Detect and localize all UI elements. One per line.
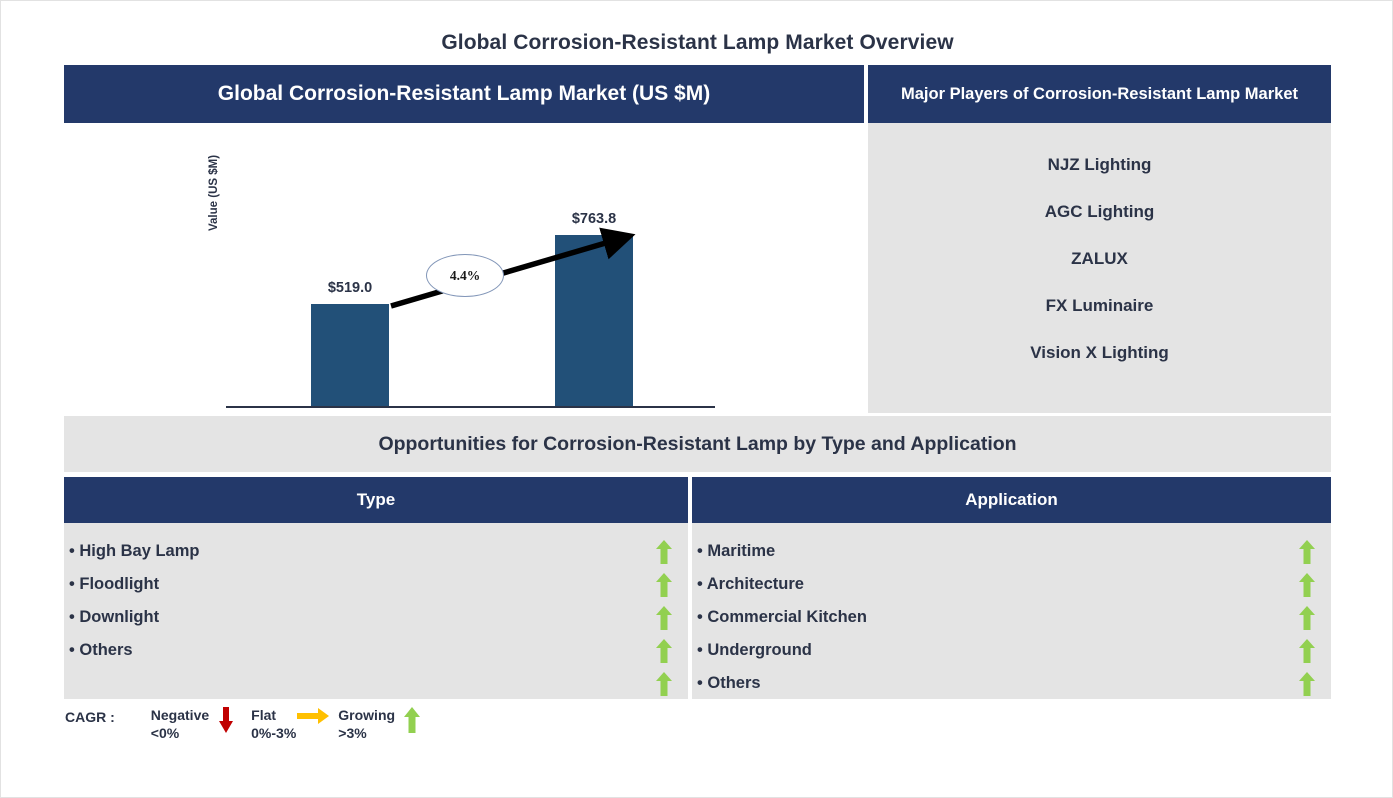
legend-entry-name: Negative <box>151 706 209 724</box>
list-item: Vision X Lighting <box>868 329 1331 376</box>
arrow-row <box>650 535 678 568</box>
bar-value-2026: $519.0 <box>290 280 410 296</box>
type-items-list: • High Bay Lamp • Floodlight • Downlight… <box>64 523 688 667</box>
arrow-row <box>650 634 678 667</box>
list-item: • Underground <box>697 634 1331 667</box>
down-arrow-icon <box>209 706 243 733</box>
up-arrow-icon <box>656 573 672 597</box>
type-column-header: Type <box>64 477 688 523</box>
legend-entry-text: Negative <0% <box>151 706 209 742</box>
application-column-body: • Maritime • Architecture • Commercial K… <box>692 523 1331 699</box>
cagr-legend: CAGR : Negative <0% Flat 0%-3% Growing >… <box>65 706 437 742</box>
list-item: FX Luminaire <box>868 282 1331 329</box>
list-item: • Floodlight <box>69 568 688 601</box>
opportunities-application-column: Application • Maritime • Architecture • … <box>692 477 1331 699</box>
growth-trend-arrow <box>214 213 714 413</box>
up-arrow-icon <box>656 672 672 696</box>
up-arrow-icon <box>1299 606 1315 630</box>
page-title: Global Corrosion-Resistant Lamp Market O… <box>1 31 1393 55</box>
legend-entry-negative: Negative <0% <box>151 706 243 742</box>
up-arrow-icon <box>656 606 672 630</box>
bar-value-2035: $763.8 <box>534 211 654 227</box>
up-arrow-icon <box>1299 573 1315 597</box>
list-item: • Others <box>69 634 688 667</box>
bar-2035 <box>555 235 633 406</box>
infographic-page: Global Corrosion-Resistant Lamp Market O… <box>0 0 1393 798</box>
cagr-bubble: 4.4% <box>426 254 504 297</box>
market-chart-panel: Global Corrosion-Resistant Lamp Market (… <box>64 65 864 413</box>
list-item: • Maritime <box>697 535 1331 568</box>
major-players-panel: Major Players of Corrosion-Resistant Lam… <box>868 65 1331 413</box>
up-arrow-icon <box>1299 639 1315 663</box>
arrow-row <box>650 601 678 634</box>
x-axis-line <box>226 406 715 408</box>
legend-entry-flat: Flat 0%-3% <box>251 706 330 742</box>
legend-entry-name: Growing <box>338 706 395 724</box>
arrow-row <box>1293 634 1321 667</box>
opportunities-banner: Opportunities for Corrosion-Resistant La… <box>64 416 1331 472</box>
list-item: AGC Lighting <box>868 188 1331 235</box>
application-items-list: • Maritime • Architecture • Commercial K… <box>692 523 1331 700</box>
cagr-legend-label: CAGR : <box>65 706 115 725</box>
list-item: • Downlight <box>69 601 688 634</box>
up-arrow-icon <box>1299 672 1315 696</box>
chart-panel-header: Global Corrosion-Resistant Lamp Market (… <box>64 65 864 123</box>
list-item: • Commercial Kitchen <box>697 601 1331 634</box>
y-axis-label: Value (US $M) <box>208 155 220 231</box>
arrow-row <box>1293 601 1321 634</box>
arrow-row <box>650 568 678 601</box>
players-list: NJZ Lighting AGC Lighting ZALUX FX Lumin… <box>868 123 1331 376</box>
legend-entry-range: <0% <box>151 724 209 742</box>
up-arrow-icon <box>395 706 429 733</box>
arrow-row <box>1293 535 1321 568</box>
arrow-row <box>650 667 678 700</box>
list-item: NJZ Lighting <box>868 141 1331 188</box>
legend-entry-text: Growing >3% <box>338 706 395 742</box>
up-arrow-icon <box>1299 540 1315 564</box>
arrow-row <box>1293 568 1321 601</box>
legend-entry-text: Flat 0%-3% <box>251 706 296 742</box>
type-arrows <box>650 535 678 700</box>
up-arrow-icon <box>656 639 672 663</box>
right-arrow-icon <box>296 706 330 725</box>
bar-chart: Value (US $M) $519.0 $763.8 4.4% 2026 20… <box>64 123 864 413</box>
bar-2026 <box>311 304 389 406</box>
application-arrows <box>1293 535 1321 700</box>
type-column-body: • High Bay Lamp • Floodlight • Downlight… <box>64 523 688 699</box>
legend-entry-growing: Growing >3% <box>338 706 429 742</box>
application-column-header: Application <box>692 477 1331 523</box>
list-item: • Architecture <box>697 568 1331 601</box>
up-arrow-icon <box>656 540 672 564</box>
legend-entry-name: Flat <box>251 706 296 724</box>
arrow-row <box>1293 667 1321 700</box>
players-panel-header: Major Players of Corrosion-Resistant Lam… <box>868 65 1331 123</box>
list-item: ZALUX <box>868 235 1331 282</box>
list-item: • High Bay Lamp <box>69 535 688 568</box>
list-item: • Others <box>697 667 1331 700</box>
legend-entry-range: 0%-3% <box>251 724 296 742</box>
legend-entry-range: >3% <box>338 724 395 742</box>
opportunities-type-column: Type • High Bay Lamp • Floodlight • Down… <box>64 477 688 699</box>
